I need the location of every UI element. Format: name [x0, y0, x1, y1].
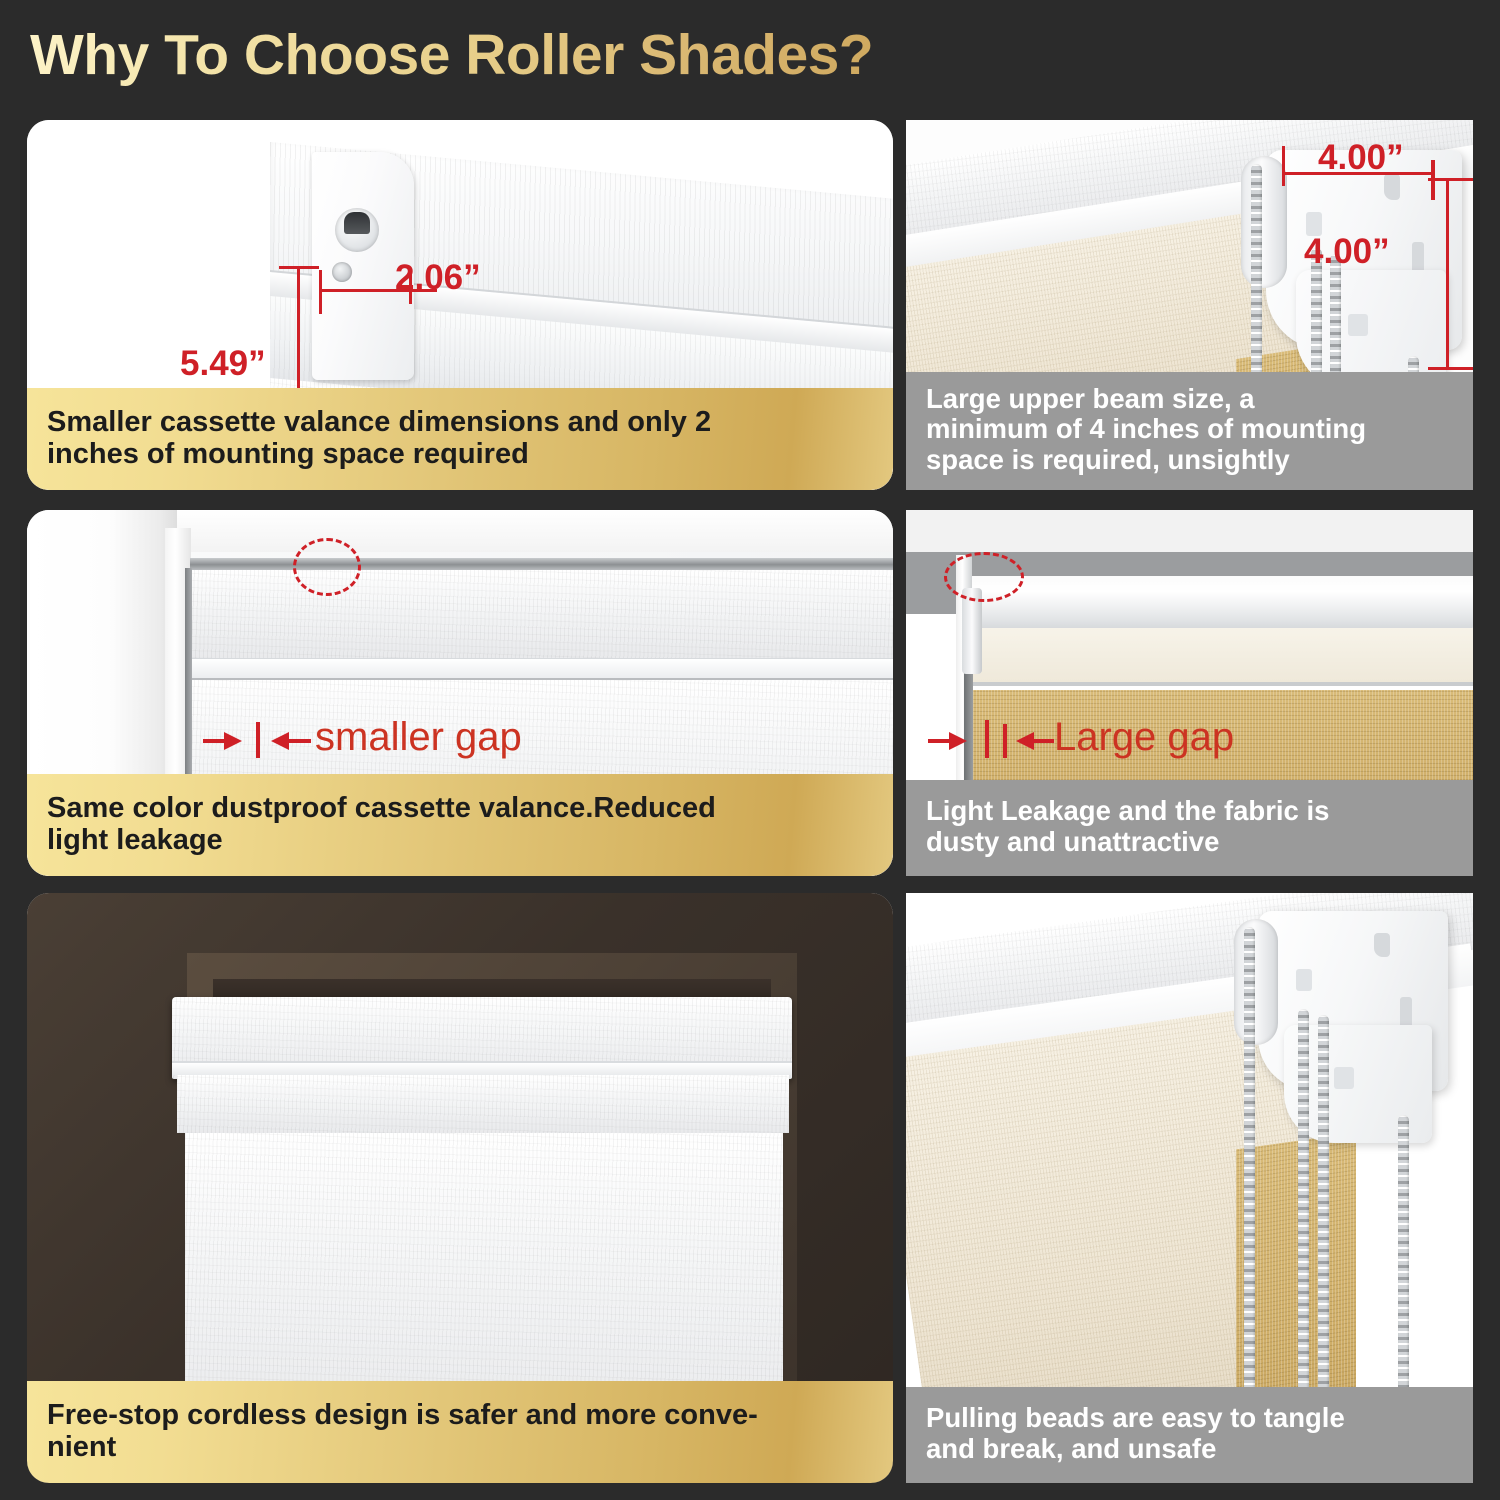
window-frame-top	[145, 510, 893, 552]
gap-arrow-right	[224, 732, 242, 750]
screw-icon	[332, 262, 352, 282]
panel-con-top-caption: Large upper beam size, a minimum of 4 in…	[906, 372, 1473, 490]
dim-tick-left	[319, 270, 322, 314]
panel-pro-top-caption: Smaller cassette valance dimensions and …	[27, 388, 893, 490]
panel-pro-bottom-caption: Free-stop cordless design is safer and m…	[27, 1381, 893, 1483]
panel-pro-mid: smaller gap Same color dustproof cassett…	[27, 510, 893, 876]
highlight-circle	[944, 552, 1024, 602]
roller-drum	[1234, 919, 1278, 1045]
roller-tube	[962, 576, 1473, 632]
dim-line-height	[1446, 178, 1449, 370]
comparison-grid: 2.06” 5.49” Smaller cassette valance dim…	[0, 0, 1500, 1500]
gap-label: smaller gap	[315, 715, 522, 760]
caption-line: and break, and unsafe	[926, 1434, 1453, 1465]
infographic-page: Why To Choose Roller Shades? 2.06”	[0, 0, 1500, 1500]
caption-line: dusty and unattractive	[926, 827, 1453, 858]
caption-line: minimum of 4 inches of mounting	[926, 414, 1453, 445]
panel-con-bottom: Pulling beads are easy to tangle and bre…	[906, 893, 1473, 1483]
caption-line: Same color dustproof cassette valance.Re…	[47, 792, 873, 824]
caption-line: space is required, unsightly	[926, 445, 1453, 476]
gap-arrow-left	[271, 732, 289, 750]
valance-lip	[190, 658, 893, 680]
panel-con-mid: Large gap Light Leakage and the fabric i…	[906, 510, 1473, 876]
roller-drum	[1241, 156, 1287, 288]
valance-face	[962, 628, 1473, 686]
caption-line: inches of mounting space required	[47, 438, 873, 470]
gap-arrow-left	[1016, 732, 1034, 750]
panel-con-top: 4.00” 4.00” Large upper beam size, a min…	[906, 120, 1473, 490]
cassette-valance-face	[190, 570, 893, 658]
panel-pro-top: 2.06” 5.49” Smaller cassette valance dim…	[27, 120, 893, 490]
highlight-circle	[293, 538, 361, 596]
dim-tick-left	[1282, 146, 1285, 186]
dimension-label-height: 4.00”	[1304, 232, 1390, 272]
caption-line: light leakage	[47, 824, 873, 856]
caption-line: Pulling beads are easy to tangle	[926, 1403, 1453, 1434]
caption-line: Large upper beam size, a	[926, 384, 1453, 415]
caption-line: Light Leakage and the fabric is	[926, 796, 1453, 827]
wall-upper	[906, 510, 1473, 552]
panel-con-mid-caption: Light Leakage and the fabric is dusty an…	[906, 780, 1473, 876]
gap-marker	[256, 722, 260, 758]
dim-cap-top	[279, 266, 319, 269]
panel-pro-mid-caption: Same color dustproof cassette valance.Re…	[27, 774, 893, 876]
caption-line: Smaller cassette valance dimensions and …	[47, 406, 873, 438]
shade-upper-band	[177, 1075, 789, 1133]
panel-con-bottom-caption: Pulling beads are easy to tangle and bre…	[906, 1387, 1473, 1483]
gap-marker	[1003, 724, 1007, 758]
dimension-label-width: 2.06”	[395, 258, 481, 298]
dimension-label-height: 5.49”	[180, 344, 266, 384]
dimension-label-width: 4.00”	[1318, 138, 1404, 178]
gap-label: Large gap	[1054, 715, 1234, 760]
gap-arrow-right	[949, 732, 967, 750]
roller-mechanism-icon	[335, 208, 379, 252]
caption-line: Free-stop cordless design is safer and m…	[47, 1399, 873, 1431]
dim-cap-top	[1428, 178, 1473, 181]
cassette-lip	[172, 1061, 792, 1075]
gap-marker	[985, 720, 989, 758]
caption-line: nient	[47, 1431, 873, 1463]
panel-pro-bottom: Free-stop cordless design is safer and m…	[27, 893, 893, 1483]
dim-cap-bottom	[1428, 367, 1473, 370]
